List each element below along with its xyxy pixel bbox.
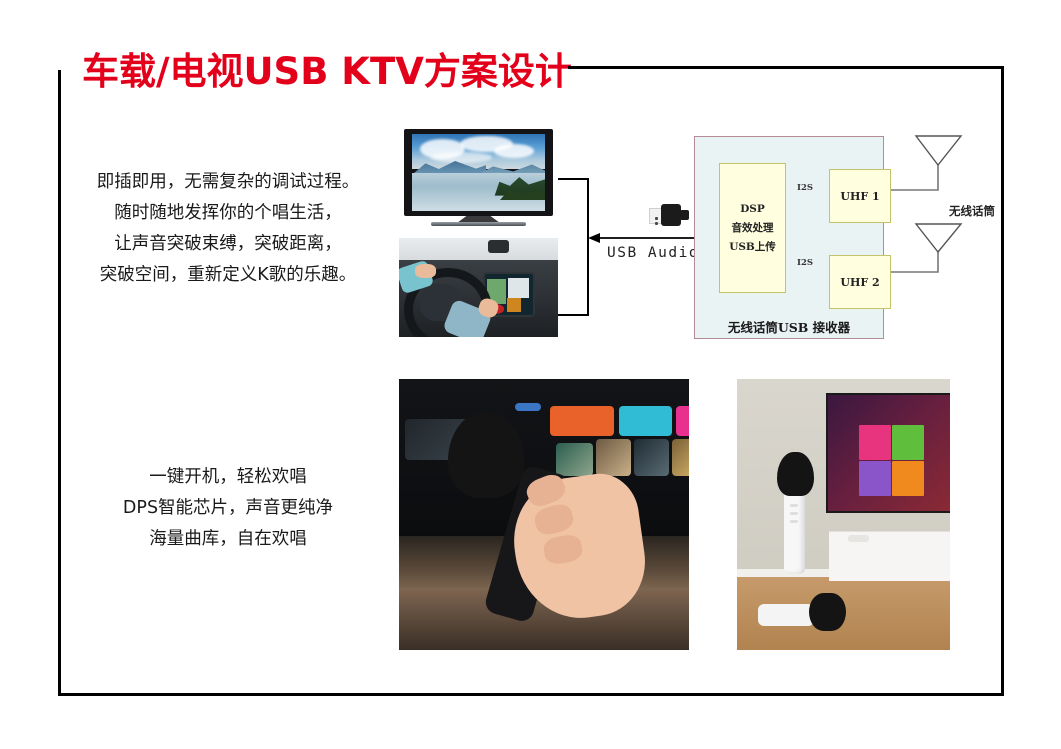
page-title: 车载/电视USB KTV方案设计 xyxy=(82,41,572,95)
microphone-button xyxy=(790,520,797,523)
standing-microphone-foam-head xyxy=(777,452,813,495)
wireless-mic-label: 无线话筒 xyxy=(949,203,995,219)
media-tile xyxy=(676,406,689,436)
diagram-caption: 无线话筒USB 接收器 xyxy=(694,317,884,336)
media-tile xyxy=(619,406,671,436)
i2s-label-1: I2S xyxy=(797,183,813,193)
intro-line-3: 让声音突破束缚，突破距离， xyxy=(72,229,384,260)
intro-line-4: 突破空间，重新定义K歌的乐趣。 xyxy=(72,260,384,291)
intro-line-1: 即插即用，无需复杂的调试过程。 xyxy=(72,167,384,198)
media-tile xyxy=(634,439,669,476)
lying-microphone-body xyxy=(758,604,813,626)
frame-top-line xyxy=(568,66,1004,69)
car-interior-photo xyxy=(399,238,558,337)
frame-right-line xyxy=(1001,66,1004,696)
tv-photo xyxy=(399,126,558,232)
remote-control xyxy=(848,535,869,542)
media-tile xyxy=(550,406,614,436)
tv-tile-view xyxy=(892,461,924,496)
intro-line-2: 随时随地发挥你的个唱生活， xyxy=(72,198,384,229)
cloud xyxy=(494,144,534,158)
uhf2-block: UHF 2 xyxy=(829,255,891,309)
i2s-label-2: I2S xyxy=(797,258,813,268)
intro-text-block: 即插即用，无需复杂的调试过程。 随时随地发挥你的个唱生活， 让声音突破束缚，突破… xyxy=(72,167,384,291)
microphone-foam-head xyxy=(448,412,523,499)
screen-tile xyxy=(507,298,521,312)
media-tile xyxy=(596,439,631,476)
tv-screen xyxy=(412,134,545,211)
microphone-button xyxy=(790,512,797,515)
feature-text-block: 一键开机，轻松欢唱 DPS智能芯片，声音更纯净 海量曲库，自在欢唱 xyxy=(72,462,384,555)
tv-tile-chat xyxy=(892,425,924,460)
driver-hand xyxy=(415,264,436,278)
feature-line-2: DPS智能芯片，声音更纯净 xyxy=(72,493,384,524)
tv-tile-send xyxy=(859,461,891,496)
dsp-audio-processing-label: 音效处理 xyxy=(732,219,774,238)
usb-plug-body xyxy=(661,204,681,226)
feature-line-3: 海量曲库，自在欢唱 xyxy=(72,524,384,555)
tv-cabinet xyxy=(829,531,950,581)
receiver-block-diagram: DSP 音效处理 USB上传 UHF 1 UHF 2 xyxy=(694,136,884,339)
lying-microphone-foam-head xyxy=(809,593,845,631)
usb-plug-cable xyxy=(680,210,689,220)
car-ceiling xyxy=(399,238,558,262)
dsp-usb-upload-label: USB上传 xyxy=(729,238,776,257)
frame-bottom-line xyxy=(58,693,1004,696)
microphone-button xyxy=(790,504,797,507)
standing-microphone-body xyxy=(784,487,805,574)
usb-plug-icon xyxy=(649,204,689,226)
usb-plug-pin xyxy=(655,222,658,225)
tv-bezel xyxy=(404,129,553,216)
microphones-in-living-room-photo xyxy=(737,379,950,650)
tv-tile-music xyxy=(859,425,891,460)
microphone-in-car-photo xyxy=(399,379,689,650)
media-tile xyxy=(556,443,594,477)
media-tile xyxy=(515,403,541,411)
slide-canvas: 车载/电视USB KTV方案设计 即插即用，无需复杂的调试过程。 随时随地发挥你… xyxy=(0,0,1061,749)
dsp-label: DSP xyxy=(740,200,765,219)
screen-tile xyxy=(508,278,529,298)
frame-left-line xyxy=(58,70,61,696)
uhf1-block: UHF 1 xyxy=(829,169,891,223)
dsp-block: DSP 音效处理 USB上传 xyxy=(719,163,786,293)
tv-base xyxy=(431,222,526,226)
living-room-tv xyxy=(826,393,950,514)
media-tile xyxy=(672,439,689,476)
usb-plug-pin xyxy=(655,217,658,220)
rearview-mirror xyxy=(488,240,509,253)
feature-line-1: 一键开机，轻松欢唱 xyxy=(72,462,384,493)
usb-audio-label: USB Audio xyxy=(607,245,699,261)
